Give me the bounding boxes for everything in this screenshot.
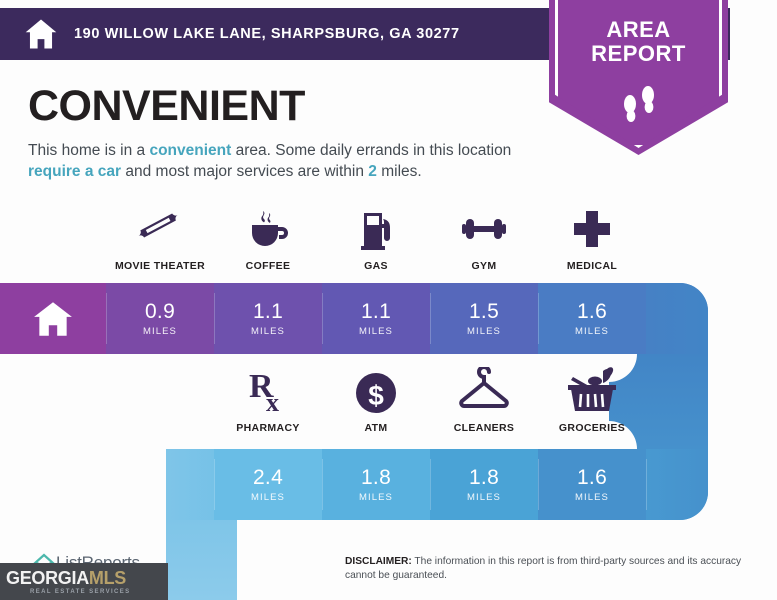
- distance-value: 0.9: [145, 301, 175, 322]
- distance-value: 1.8: [361, 467, 391, 488]
- category-atm: $ ATM: [322, 365, 430, 434]
- disclaimer-label: DISCLAIMER:: [345, 556, 412, 567]
- distance-unit: MILES: [575, 492, 609, 503]
- distance-cell: 1.8 MILES: [430, 449, 538, 520]
- house-icon: [24, 17, 58, 51]
- category-label: PHARMACY: [236, 422, 299, 434]
- svg-text:$: $: [368, 380, 384, 411]
- distance-value: 1.6: [577, 467, 607, 488]
- mls-name-mls: MLS: [89, 568, 126, 588]
- gas-pump-icon: [352, 203, 400, 253]
- subtitle-highlight: require a car: [28, 163, 121, 180]
- icon-row-1: MOVIE THEATER COFFEE: [106, 203, 646, 272]
- subtitle-text: and most major services are within: [121, 163, 368, 180]
- cell-divider: [106, 293, 107, 344]
- distance-cell: 1.8 MILES: [322, 449, 430, 520]
- distance-unit: MILES: [359, 492, 393, 503]
- category-label: ATM: [364, 422, 387, 434]
- badge-label: AREA REPORT: [549, 18, 728, 66]
- page-subtitle: This home is in a convenient area. Some …: [28, 140, 518, 183]
- distance-unit: MILES: [467, 326, 501, 337]
- distance-unit: MILES: [251, 326, 285, 337]
- ribbon-house-cell: [0, 283, 106, 354]
- subtitle-text: miles.: [377, 163, 422, 180]
- mls-tagline: REAL ESTATE SERVICES: [30, 589, 131, 595]
- distance-cell: 1.1 MILES: [322, 283, 430, 354]
- coffee-cup-icon: [244, 203, 292, 253]
- subtitle-highlight: 2: [368, 163, 377, 180]
- icon-row-2: R x PHARMACY $ ATM CLEANERS: [214, 365, 646, 434]
- page-title: CONVENIENT: [28, 85, 548, 128]
- cell-divider: [430, 293, 431, 344]
- mls-name: GEORGIAMLS: [6, 568, 126, 589]
- distance-value: 1.1: [361, 301, 391, 322]
- distance-value: 1.8: [469, 467, 499, 488]
- disclaimer: DISCLAIMER: The information in this repo…: [345, 555, 757, 584]
- badge-line-1: AREA: [549, 18, 728, 42]
- distance-value: 1.6: [577, 301, 607, 322]
- title-block: CONVENIENT This home is in a convenient …: [28, 85, 548, 183]
- category-coffee: COFFEE: [214, 203, 322, 272]
- category-gas: GAS: [322, 203, 430, 272]
- hanger-icon: [456, 365, 512, 415]
- category-label: GYM: [472, 260, 497, 272]
- distance-unit: MILES: [467, 492, 501, 503]
- cell-divider: [538, 293, 539, 344]
- georgia-mls-watermark: GEORGIAMLS REAL ESTATE SERVICES: [0, 563, 168, 600]
- area-report-badge: AREA REPORT: [549, 0, 728, 155]
- distance-row-2: 2.4 MILES 1.8 MILES 1.8 MILES 1.6 MILES: [214, 449, 646, 520]
- category-label: CLEANERS: [454, 422, 515, 434]
- rx-icon: R x: [244, 365, 292, 415]
- dollar-coin-icon: $: [352, 365, 400, 415]
- subtitle-text: This home is in a: [28, 142, 149, 159]
- category-groceries: GROCERIES: [538, 365, 646, 434]
- distance-cell: 1.6 MILES: [538, 283, 646, 354]
- subtitle-text: area. Some daily errands in this locatio…: [231, 142, 511, 159]
- subtitle-highlight: convenient: [149, 142, 231, 159]
- cell-divider: [322, 293, 323, 344]
- badge-line-2: REPORT: [549, 42, 728, 66]
- distance-cell: 1.6 MILES: [538, 449, 646, 520]
- category-label: GROCERIES: [559, 422, 625, 434]
- cell-divider: [214, 293, 215, 344]
- category-pharmacy: R x PHARMACY: [214, 365, 322, 434]
- distance-unit: MILES: [143, 326, 177, 337]
- category-label: GAS: [364, 260, 388, 272]
- category-label: COFFEE: [246, 260, 291, 272]
- dumbbell-icon: [460, 203, 508, 253]
- cell-divider: [214, 459, 215, 510]
- movie-ticket-icon: [136, 203, 184, 253]
- cell-divider: [538, 459, 539, 510]
- distance-cell: 1.1 MILES: [214, 283, 322, 354]
- distance-row-1: 0.9 MILES 1.1 MILES 1.1 MILES 1.5 MILES …: [106, 283, 646, 354]
- footprints-icon: [617, 84, 661, 124]
- medical-cross-icon: [568, 203, 616, 253]
- category-label: MEDICAL: [567, 260, 617, 272]
- cell-divider: [322, 459, 323, 510]
- category-movie-theater: MOVIE THEATER: [106, 203, 214, 272]
- distance-cell: 0.9 MILES: [106, 283, 214, 354]
- distance-cell: 2.4 MILES: [214, 449, 322, 520]
- distance-unit: MILES: [359, 326, 393, 337]
- distance-unit: MILES: [251, 492, 285, 503]
- distance-value: 1.1: [253, 301, 283, 322]
- basket-icon: [565, 365, 619, 415]
- cell-divider: [646, 459, 647, 510]
- category-label: MOVIE THEATER: [115, 260, 205, 272]
- distance-unit: MILES: [575, 326, 609, 337]
- category-medical: MEDICAL: [538, 203, 646, 272]
- property-address: 190 WILLOW LAKE LANE, SHARPSBURG, GA 302…: [74, 26, 460, 42]
- category-cleaners: CLEANERS: [430, 365, 538, 434]
- svg-text:x: x: [266, 388, 279, 415]
- mls-name-georgia: GEORGIA: [6, 568, 89, 588]
- house-icon: [32, 300, 74, 338]
- distance-cell: 1.5 MILES: [430, 283, 538, 354]
- category-gym: GYM: [430, 203, 538, 272]
- cell-divider: [430, 459, 431, 510]
- distance-value: 1.5: [469, 301, 499, 322]
- distance-value: 2.4: [253, 467, 283, 488]
